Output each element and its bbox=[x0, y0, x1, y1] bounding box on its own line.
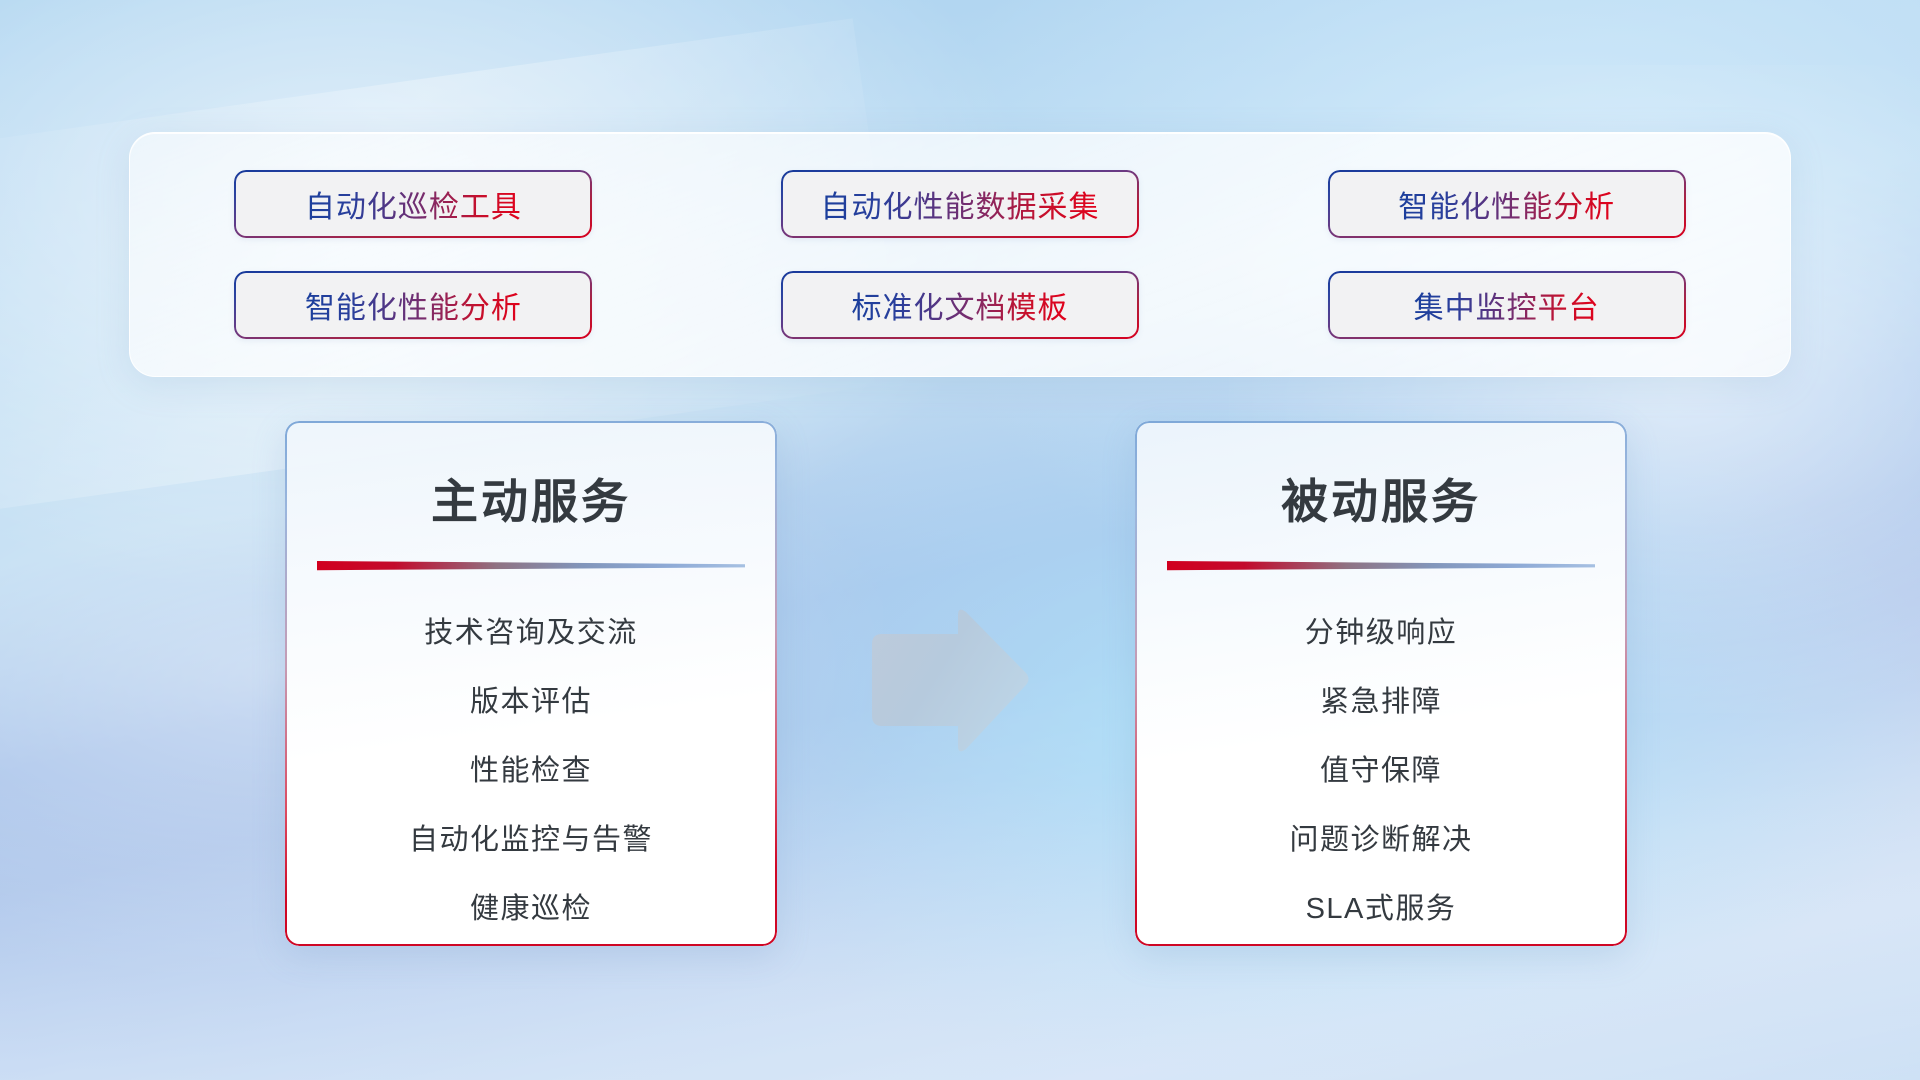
card-divider bbox=[317, 558, 745, 571]
list-item: 分钟级响应 bbox=[1135, 599, 1627, 668]
card-title: 主动服务 bbox=[285, 463, 777, 532]
capability-chip-label: 智能化性能分析 bbox=[1398, 182, 1615, 226]
capability-chip[interactable]: 智能化性能分析 bbox=[1328, 170, 1686, 238]
list-item: SLA式服务 bbox=[1135, 875, 1627, 944]
capability-chip-label: 智能化性能分析 bbox=[305, 283, 522, 327]
service-card-proactive: 主动服务 技术咨询及交流 版本评估 性能检查 自动化监控与告警 健康巡检 bbox=[285, 421, 777, 946]
arrow-right-icon bbox=[862, 608, 1032, 756]
capability-chip[interactable]: 集中监控平台 bbox=[1328, 271, 1686, 339]
list-item: 技术咨询及交流 bbox=[285, 599, 777, 668]
card-divider bbox=[1167, 558, 1595, 571]
list-item: 版本评估 bbox=[285, 668, 777, 737]
capability-chip-label: 标准化文档模板 bbox=[851, 283, 1068, 327]
capability-chip[interactable]: 标准化文档模板 bbox=[781, 271, 1139, 339]
capability-chip[interactable]: 自动化巡检工具 bbox=[234, 170, 592, 238]
list-item: 紧急排障 bbox=[1135, 668, 1627, 737]
capability-chip[interactable]: 智能化性能分析 bbox=[234, 271, 592, 339]
capability-chip-label: 自动化巡检工具 bbox=[305, 182, 522, 226]
capabilities-panel: 自动化巡检工具 自动化性能数据采集 智能化性能分析 智能化性能分析 标准化文档模… bbox=[129, 132, 1791, 377]
capability-chip-label: 集中监控平台 bbox=[1414, 283, 1600, 327]
list-item: 自动化监控与告警 bbox=[285, 806, 777, 875]
card-title: 被动服务 bbox=[1135, 463, 1627, 532]
card-item-list: 分钟级响应 紧急排障 值守保障 问题诊断解决 SLA式服务 bbox=[1135, 599, 1627, 944]
list-item: 问题诊断解决 bbox=[1135, 806, 1627, 875]
service-card-reactive: 被动服务 分钟级响应 紧急排障 值守保障 问题诊断解决 SLA式服务 bbox=[1135, 421, 1627, 946]
list-item: 健康巡检 bbox=[285, 875, 777, 944]
capability-chip-label: 自动化性能数据采集 bbox=[820, 182, 1099, 226]
card-item-list: 技术咨询及交流 版本评估 性能检查 自动化监控与告警 健康巡检 bbox=[285, 599, 777, 944]
capability-chip[interactable]: 自动化性能数据采集 bbox=[781, 170, 1139, 238]
list-item: 性能检查 bbox=[285, 737, 777, 806]
list-item: 值守保障 bbox=[1135, 737, 1627, 806]
